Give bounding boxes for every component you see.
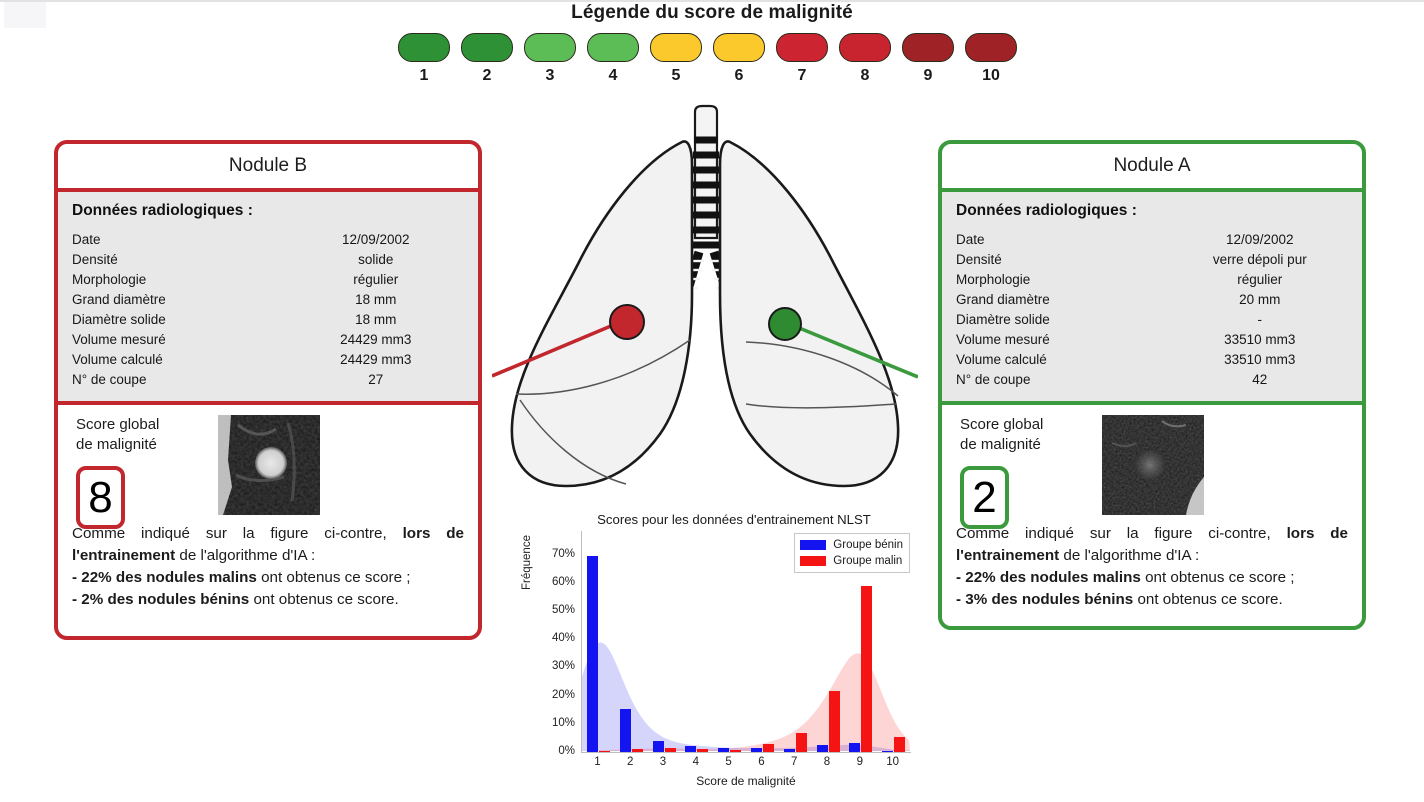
nodule-b-row-key: Grand diamètre	[72, 289, 288, 309]
chart-bar-malin-10	[894, 737, 905, 752]
chart-y-tick: 0%	[535, 745, 575, 757]
nodule-a-row: Morphologierégulier	[956, 269, 1348, 289]
nodule-a-score-badge: 2	[960, 466, 1009, 529]
nodule-b-score-caption-line1: Score global	[76, 416, 159, 433]
legend-pill-1	[398, 33, 450, 62]
chart-legend: Groupe béninGroupe malin	[794, 533, 910, 573]
nodule-b-row-value: 18 mm	[288, 309, 464, 329]
nodule-a-row-value: 12/09/2002	[1172, 229, 1348, 249]
nodule-b-row: Morphologierégulier	[72, 269, 464, 289]
nodule-a-text-a: Comme indiqué sur la figure ci-contre,	[956, 525, 1287, 542]
chart-legend-item-0[interactable]: Groupe bénin	[800, 537, 903, 553]
chart-bar-benin-6	[751, 748, 762, 752]
lung-diagram	[492, 104, 918, 519]
nodule-b-radiology-block: Données radiologiques : Date12/09/2002De…	[58, 192, 478, 405]
nodule-b-bullet-1-rest: ont obtenus ce score ;	[257, 569, 411, 586]
nodule-b-row: Diamètre solide18 mm	[72, 309, 464, 329]
nodule-a-row-value: verre dépoli pur	[1172, 249, 1348, 269]
legend-item-3[interactable]: 3	[522, 33, 578, 84]
nodule-a-bullet-1-rest: ont obtenus ce score ;	[1141, 569, 1295, 586]
nodule-b-row-value: solide	[288, 249, 464, 269]
nodule-b-row-key: Date	[72, 229, 288, 249]
nodule-b-radiology-table: Date12/09/2002DensitésolideMorphologieré…	[72, 229, 464, 389]
legend-pill-number-7: 7	[774, 68, 830, 84]
nodule-b-score-row: Score global de malignité 8	[58, 405, 478, 517]
legend-pill-number-9: 9	[900, 68, 956, 84]
nodule-b-bullet-2: - 2% des nodules bénins ont obtenus ce s…	[72, 589, 464, 611]
nodule-b-row: Grand diamètre18 mm	[72, 289, 464, 309]
nodule-a-card: Nodule A Données radiologiques : Date12/…	[938, 140, 1366, 630]
chart-plot-area: Groupe béninGroupe malin	[581, 531, 911, 753]
nodule-a-marker[interactable]	[769, 308, 801, 340]
legend-item-2[interactable]: 2	[459, 33, 515, 84]
nodule-b-row-value: 18 mm	[288, 289, 464, 309]
chart-bar-malin-8	[829, 691, 840, 752]
nodule-a-row-key: Date	[956, 229, 1172, 249]
nodule-b-row-key: Volume calculé	[72, 349, 288, 369]
legend-item-9[interactable]: 9	[900, 33, 956, 84]
legend-pill-number-4: 4	[585, 68, 641, 84]
chart-bar-benin-10	[882, 751, 893, 752]
nodule-b-score-badge: 8	[76, 466, 125, 529]
nodule-b-bullet-1-bold: - 22% des nodules malins	[72, 569, 257, 586]
legend-pill-6	[713, 33, 765, 62]
nodule-b-row: Volume calculé24429 mm3	[72, 349, 464, 369]
nodule-b-bullet-1: - 22% des nodules malins ont obtenus ce …	[72, 567, 464, 589]
legend-pill-number-10: 10	[963, 68, 1019, 84]
nodule-a-bullet-1-bold: - 22% des nodules malins	[956, 569, 1141, 586]
chart-x-tick: 4	[681, 756, 711, 768]
nodule-a-row: N° de coupe42	[956, 369, 1348, 389]
nodule-b-explanation-p1: Comme indiqué sur la figure ci-contre, l…	[72, 523, 464, 567]
right-lung-shape	[720, 141, 898, 486]
legend-item-10[interactable]: 10	[963, 33, 1019, 84]
nodule-b-ct-image	[218, 415, 320, 515]
chart-x-tick: 3	[648, 756, 678, 768]
chart-y-tick: 40%	[535, 632, 575, 644]
chart-bar-malin-5	[730, 750, 741, 752]
nodule-b-bullet-2-rest: ont obtenus ce score.	[249, 591, 398, 608]
nodule-a-row-value: 33510 mm3	[1172, 349, 1348, 369]
nodule-b-row-value: 12/09/2002	[288, 229, 464, 249]
nodule-b-row-key: Diamètre solide	[72, 309, 288, 329]
nodule-a-row: Diamètre solide-	[956, 309, 1348, 329]
nodule-b-row: N° de coupe27	[72, 369, 464, 389]
nodule-a-title: Nodule A	[942, 144, 1362, 192]
chart-legend-swatch	[800, 556, 826, 566]
nodule-a-row: Grand diamètre20 mm	[956, 289, 1348, 309]
chart-y-tick: 50%	[535, 604, 575, 616]
nodule-a-bullet-2-rest: ont obtenus ce score.	[1133, 591, 1282, 608]
chart-legend-item-1[interactable]: Groupe malin	[800, 553, 903, 569]
nodule-a-score-caption-line1: Score global	[960, 416, 1043, 433]
nodule-a-row-key: Grand diamètre	[956, 289, 1172, 309]
nodule-a-row-key: Morphologie	[956, 269, 1172, 289]
nodule-b-text-c: de l'algorithme d'IA :	[175, 547, 315, 564]
nodule-b-row: Volume mesuré24429 mm3	[72, 329, 464, 349]
chart-x-tick: 6	[746, 756, 776, 768]
nodule-a-row-key: Diamètre solide	[956, 309, 1172, 329]
chart-bar-benin-1	[587, 556, 598, 752]
chart-y-axis-label: Fréquence	[521, 535, 533, 590]
legend-pill-number-8: 8	[837, 68, 893, 84]
nodule-a-explanation-p1: Comme indiqué sur la figure ci-contre, l…	[956, 523, 1348, 567]
legend-title: Légende du score de malignité	[0, 2, 1424, 24]
nodule-a-row-value: régulier	[1172, 269, 1348, 289]
chart-x-tick: 8	[812, 756, 842, 768]
nodule-a-radiology-heading: Données radiologiques :	[956, 202, 1348, 220]
nodule-a-row-value: 33510 mm3	[1172, 329, 1348, 349]
chart-y-tick: 20%	[535, 689, 575, 701]
chart-x-tick: 9	[845, 756, 875, 768]
chart-bar-benin-9	[849, 743, 860, 752]
chart-y-tick: 10%	[535, 717, 575, 729]
nodule-b-row: Densitésolide	[72, 249, 464, 269]
nodule-a-score-row: Score global de malignité 2	[942, 405, 1362, 517]
nodule-b-row-value: 24429 mm3	[288, 329, 464, 349]
legend-pill-number-6: 6	[711, 68, 767, 84]
nodule-a-row: Densitéverre dépoli pur	[956, 249, 1348, 269]
nodule-a-row-value: 42	[1172, 369, 1348, 389]
chart-x-tick: 10	[878, 756, 908, 768]
chart-y-tick: 30%	[535, 660, 575, 672]
legend-pill-10	[965, 33, 1017, 62]
legend-item-4[interactable]: 4	[585, 33, 641, 84]
legend-pill-4	[587, 33, 639, 62]
nodule-b-row-value: régulier	[288, 269, 464, 289]
chart-bar-benin-5	[718, 748, 729, 752]
nodule-a-row-value: 20 mm	[1172, 289, 1348, 309]
chart-bar-malin-3	[665, 748, 676, 752]
nodule-b-row-value: 24429 mm3	[288, 349, 464, 369]
nodule-b-row: Date12/09/2002	[72, 229, 464, 249]
legend-pill-9	[902, 33, 954, 62]
nodule-a-bullet-2-bold: - 3% des nodules bénins	[956, 591, 1133, 608]
nodule-b-row-key: N° de coupe	[72, 369, 288, 389]
chart-bar-benin-2	[620, 709, 631, 752]
nodule-a-row-key: Volume calculé	[956, 349, 1172, 369]
chart-x-tick: 5	[714, 756, 744, 768]
chart-bar-malin-7	[796, 733, 807, 752]
chart-bar-malin-4	[697, 749, 708, 752]
nodule-a-score-caption-line2: de malignité	[960, 436, 1041, 453]
chart-y-tick: 60%	[535, 576, 575, 588]
nodule-b-ct-thumbnail	[218, 415, 320, 515]
nodule-b-row-key: Densité	[72, 249, 288, 269]
chart-bar-malin-1	[599, 751, 610, 752]
nodule-a-row-key: Densité	[956, 249, 1172, 269]
chart-bar-benin-4	[685, 746, 696, 752]
legend-pill-number-3: 3	[522, 68, 578, 84]
legend-pill-3	[524, 33, 576, 62]
chart-legend-label: Groupe malin	[833, 555, 902, 567]
nodule-b-text-a: Comme indiqué sur la figure ci-contre,	[72, 525, 403, 542]
malignancy-score-legend: 12345678910	[396, 33, 1026, 91]
nodule-a-explanation: Comme indiqué sur la figure ci-contre, l…	[942, 517, 1362, 611]
chart-legend-swatch	[800, 540, 826, 550]
nodule-b-marker[interactable]	[610, 305, 644, 339]
chart-x-axis-label: Score de malignité	[581, 774, 911, 788]
nodule-b-row-value: 27	[288, 369, 464, 389]
left-lung-shape	[512, 141, 692, 486]
nodule-a-row-value: -	[1172, 309, 1348, 329]
legend-pill-8	[839, 33, 891, 62]
chart-bar-malin-9	[861, 586, 872, 752]
legend-item-6[interactable]: 6	[711, 33, 767, 84]
nodule-b-score-caption-line2: de malignité	[76, 436, 157, 453]
nodule-a-bullet-1: - 22% des nodules malins ont obtenus ce …	[956, 567, 1348, 589]
legend-pill-number-1: 1	[396, 68, 452, 84]
chart-bar-benin-7	[784, 749, 795, 752]
legend-item-8[interactable]: 8	[837, 33, 893, 84]
nodule-a-radiology-table: Date12/09/2002Densitéverre dépoli purMor…	[956, 229, 1348, 389]
chart-x-tick: 7	[779, 756, 809, 768]
nodule-a-score-left: Score global de malignité 2	[960, 415, 1080, 529]
chart-x-tick: 2	[615, 756, 645, 768]
nodule-a-ct-thumbnail	[1102, 415, 1204, 515]
nodule-a-bullet-2: - 3% des nodules bénins ont obtenus ce s…	[956, 589, 1348, 611]
chart-bar-malin-6	[763, 744, 774, 752]
nodule-b-explanation: Comme indiqué sur la figure ci-contre, l…	[58, 517, 478, 611]
chart-y-tick: 70%	[535, 548, 575, 560]
nodule-a-row-key: N° de coupe	[956, 369, 1172, 389]
nlst-training-score-chart: Scores pour les données d'entrainement N…	[519, 512, 905, 798]
nodule-b-bullet-2-bold: - 2% des nodules bénins	[72, 591, 249, 608]
chart-x-tick: 1	[582, 756, 612, 768]
nodule-a-row: Volume mesuré33510 mm3	[956, 329, 1348, 349]
nodule-a-text-c: de l'algorithme d'IA :	[1059, 547, 1199, 564]
nodule-b-row-key: Morphologie	[72, 269, 288, 289]
legend-pill-7	[776, 33, 828, 62]
legend-item-7[interactable]: 7	[774, 33, 830, 84]
nodule-b-score-left: Score global de malignité 8	[76, 415, 196, 529]
nodule-b-card: Nodule B Données radiologiques : Date12/…	[54, 140, 482, 640]
legend-item-1[interactable]: 1	[396, 33, 452, 84]
chart-title: Scores pour les données d'entrainement N…	[563, 512, 905, 527]
chart-bar-benin-3	[653, 741, 664, 752]
nodule-a-row: Volume calculé33510 mm3	[956, 349, 1348, 369]
legend-pill-5	[650, 33, 702, 62]
legend-pill-2	[461, 33, 513, 62]
nodule-a-row-key: Volume mesuré	[956, 329, 1172, 349]
legend-pill-number-5: 5	[648, 68, 704, 84]
legend-pill-number-2: 2	[459, 68, 515, 84]
nodule-b-row-key: Volume mesuré	[72, 329, 288, 349]
nodule-a-score-caption: Score global de malignité	[960, 415, 1080, 455]
nodule-a-radiology-block: Données radiologiques : Date12/09/2002De…	[942, 192, 1362, 405]
chart-bar-benin-8	[817, 745, 828, 752]
nodule-b-radiology-heading: Données radiologiques :	[72, 202, 464, 220]
chart-legend-label: Groupe bénin	[833, 539, 903, 551]
nodule-b-title: Nodule B	[58, 144, 478, 192]
chart-bar-malin-2	[632, 749, 643, 752]
nodule-a-ct-image	[1102, 415, 1204, 515]
legend-item-5[interactable]: 5	[648, 33, 704, 84]
nodule-b-score-caption: Score global de malignité	[76, 415, 196, 455]
nodule-a-row: Date12/09/2002	[956, 229, 1348, 249]
